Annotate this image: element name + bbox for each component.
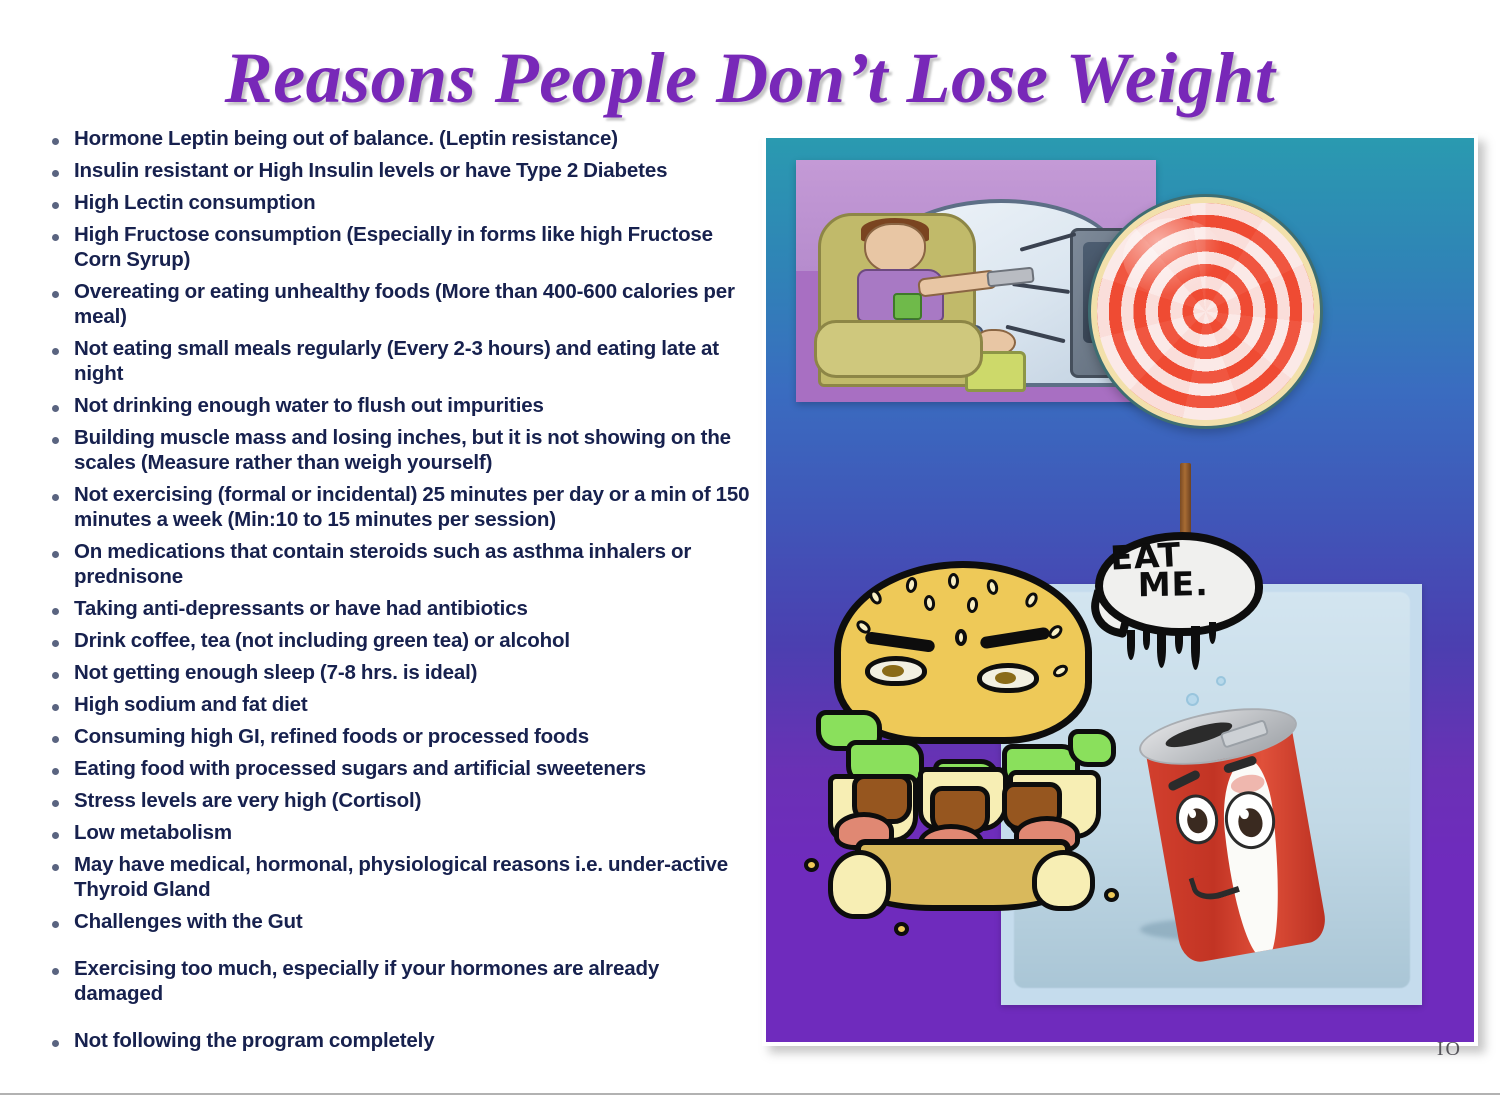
ink-drip — [1209, 622, 1216, 644]
list-item: May have medical, hormonal, physiologica… — [52, 852, 752, 902]
bullet-point-icon — [52, 640, 59, 647]
bullet-point-icon — [52, 736, 59, 743]
list-item-label: Insulin resistant or High Insulin levels… — [74, 158, 752, 183]
bullet-point-icon — [52, 704, 59, 711]
bullet-point-icon — [52, 234, 59, 241]
bullet-point-icon — [52, 405, 59, 412]
list-item-label: High sodium and fat diet — [74, 692, 752, 717]
recliner-armrest — [814, 320, 983, 378]
list-item-label: Not exercising (formal or incidental) 25… — [74, 482, 752, 532]
list-item: Not exercising (formal or incidental) 25… — [52, 482, 752, 532]
list-item: Not following the program completely — [52, 1028, 752, 1053]
lollipop-highlight — [1123, 218, 1224, 296]
list-item: On medications that contain steroids suc… — [52, 539, 752, 589]
sesame-seed — [985, 577, 1000, 595]
burger-eye — [865, 656, 927, 686]
bullet-point-icon — [52, 291, 59, 298]
list-item-label: Hormone Leptin being out of balance. (Le… — [74, 126, 752, 151]
list-item-label: Eating food with processed sugars and ar… — [74, 756, 752, 781]
burger-nose — [955, 629, 967, 646]
list-item-label: May have medical, hormonal, physiologica… — [74, 852, 752, 902]
list-item: Not eating small meals regularly (Every … — [52, 336, 752, 386]
bullet-point-icon — [52, 138, 59, 145]
footer-divider — [0, 1093, 1500, 1095]
burger-monster-icon — [816, 554, 1116, 934]
ink-drip — [1143, 630, 1150, 650]
bullet-point-icon — [52, 1040, 59, 1047]
bullet-point-icon — [52, 768, 59, 775]
cheese-drip — [1032, 850, 1095, 911]
sesame-seed — [1023, 590, 1040, 609]
list-item: Consuming high GI, refined foods or proc… — [52, 724, 752, 749]
bullet-point-icon — [52, 921, 59, 928]
sesame-seed — [967, 597, 980, 614]
bullet-point-icon — [52, 202, 59, 209]
can-eyebrow — [1167, 769, 1202, 792]
speech-bubble-line-2: ME. — [1138, 569, 1249, 601]
slide: Reasons People Don’t Lose Weight Hormone… — [0, 0, 1500, 1099]
bullet-point-icon — [52, 864, 59, 871]
can-eye — [1172, 791, 1222, 848]
burger-eyebrow — [864, 631, 935, 653]
sesame-seed — [905, 576, 919, 594]
bullet-point-icon — [52, 494, 59, 501]
crumb — [894, 922, 909, 936]
speech-bubble: EAT ME. — [1095, 532, 1263, 664]
crumb — [1104, 888, 1119, 902]
list-item: High Fructose consumption (Especially in… — [52, 222, 752, 272]
list-item-label: Not eating small meals regularly (Every … — [74, 336, 752, 386]
burger-pupil — [882, 665, 904, 677]
bullet-point-icon — [52, 672, 59, 679]
list-item-label: Exercising too much, especially if your … — [74, 956, 752, 1006]
lettuce-leaf — [1068, 729, 1116, 767]
crumb — [804, 858, 819, 872]
burger-pupil — [995, 672, 1017, 684]
list-item: Challenges with the Gut — [52, 909, 752, 934]
list-item-label: Taking anti-depressants or have had anti… — [74, 596, 752, 621]
list-item-label: Low metabolism — [74, 820, 752, 845]
list-item-label: Drink coffee, tea (not including green t… — [74, 628, 752, 653]
list-item: Eating food with processed sugars and ar… — [52, 756, 752, 781]
list-item-label: Not drinking enough water to flush out i… — [74, 393, 752, 418]
bullet-point-icon — [52, 551, 59, 558]
page-title: Reasons People Don’t Lose Weight — [0, 42, 1500, 114]
list-item: Stress levels are very high (Cortisol) — [52, 788, 752, 813]
man-head — [864, 223, 925, 274]
ink-drip — [1175, 628, 1183, 654]
ink-drip — [1127, 630, 1135, 660]
list-item: Taking anti-depressants or have had anti… — [52, 596, 752, 621]
list-item: High Lectin consumption — [52, 190, 752, 215]
list-item-label: High Fructose consumption (Especially in… — [74, 222, 752, 272]
list-item-label: Consuming high GI, refined foods or proc… — [74, 724, 752, 749]
illustration-canvas: EAT ME. — [766, 138, 1474, 1042]
lollipop-icon — [1088, 194, 1323, 429]
list-item: High sodium and fat diet — [52, 692, 752, 717]
bullet-point-icon — [52, 437, 59, 444]
ink-drip — [1191, 626, 1200, 670]
bullet-point-icon — [52, 608, 59, 615]
can-smile — [1189, 865, 1240, 906]
ink-drip — [1157, 630, 1166, 668]
speech-bubble-text: EAT ME. — [1110, 537, 1249, 605]
list-item: Low metabolism — [52, 820, 752, 845]
bullet-point-icon — [52, 170, 59, 177]
list-item: Building muscle mass and losing inches, … — [52, 425, 752, 475]
list-item: Not getting enough sleep (7-8 hrs. is id… — [52, 660, 752, 685]
list-item-label: Not following the program completely — [74, 1028, 752, 1053]
list-item: Hormone Leptin being out of balance. (Le… — [52, 126, 752, 151]
illustration-panel: EAT ME. — [762, 134, 1478, 1046]
list-item-label: Challenges with the Gut — [74, 909, 752, 934]
list-item: Overeating or eating unhealthy foods (Mo… — [52, 279, 752, 329]
sesame-seed — [948, 573, 959, 589]
list-item-label: Building muscle mass and losing inches, … — [74, 425, 752, 475]
sesame-seed — [922, 595, 935, 612]
list-item: Drink coffee, tea (not including green t… — [52, 628, 752, 653]
list-item: Exercising too much, especially if your … — [52, 956, 752, 1006]
list-item-label: On medications that contain steroids suc… — [74, 539, 752, 589]
burger-eye — [977, 663, 1039, 693]
reasons-list: Hormone Leptin being out of balance. (Le… — [52, 126, 752, 1060]
list-item-label: Not getting enough sleep (7-8 hrs. is id… — [74, 660, 752, 685]
sesame-seed — [867, 587, 885, 606]
drink-cup-icon — [893, 293, 922, 320]
bullet-point-icon — [52, 800, 59, 807]
bullet-point-icon — [52, 968, 59, 975]
cheese-drip — [828, 850, 891, 918]
list-item-label: High Lectin consumption — [74, 190, 752, 215]
bullet-point-icon — [52, 832, 59, 839]
list-item: Insulin resistant or High Insulin levels… — [52, 158, 752, 183]
bullet-point-icon — [52, 348, 59, 355]
list-item-label: Overeating or eating unhealthy foods (Mo… — [74, 279, 752, 329]
sesame-seed — [1051, 662, 1070, 680]
page-number: IO — [1437, 1038, 1462, 1061]
list-item-label: Stress levels are very high (Cortisol) — [74, 788, 752, 813]
list-item: Not drinking enough water to flush out i… — [52, 393, 752, 418]
burger-eyebrow — [979, 627, 1050, 650]
